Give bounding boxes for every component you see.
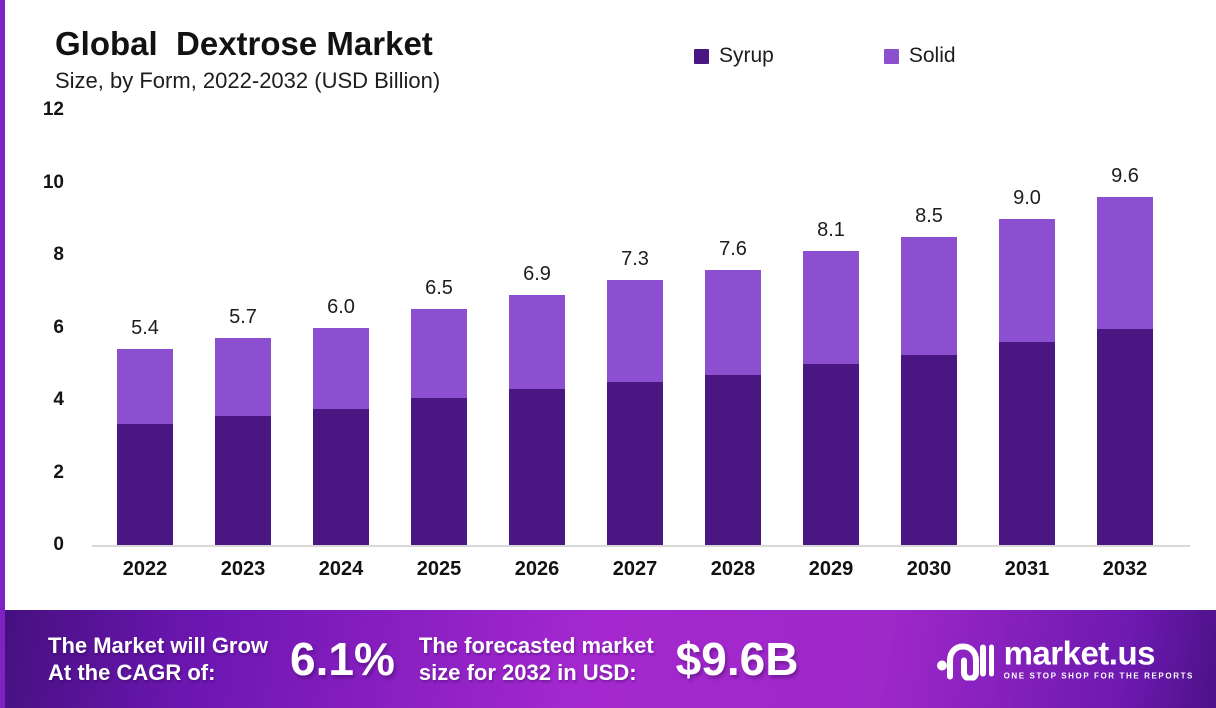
bar-segment-syrup[interactable] — [999, 342, 1055, 545]
bar-value-label: 6.0 — [292, 296, 390, 319]
bar-segment-solid[interactable] — [901, 237, 957, 355]
legend-label-syrup: Syrup — [719, 44, 774, 68]
bar-segment-solid[interactable] — [313, 328, 369, 410]
bar-segment-solid[interactable] — [705, 270, 761, 375]
stacked-bar[interactable] — [607, 280, 663, 545]
chart-header: Global Dextrose Market Size, by Form, 20… — [0, 0, 1216, 110]
page-title: Global Dextrose Market — [55, 24, 440, 64]
x-axis-tick: 2031 — [978, 558, 1076, 581]
bar-group[interactable]: 6.9 — [488, 110, 586, 545]
stacked-bar[interactable] — [509, 295, 565, 545]
page-subtitle: Size, by Form, 2022-2032 (USD Billion) — [55, 66, 440, 96]
bar-value-label: 6.5 — [390, 277, 488, 300]
bar-segment-syrup[interactable] — [117, 424, 173, 545]
bar-group[interactable]: 5.4 — [96, 110, 194, 545]
stacked-bar[interactable] — [411, 309, 467, 545]
legend-swatch-icon-solid — [884, 49, 899, 64]
bar-segment-solid[interactable] — [117, 349, 173, 423]
stacked-bar[interactable] — [803, 251, 859, 545]
y-axis-tick: 10 — [43, 172, 64, 194]
legend-swatch-icon-syrup — [694, 49, 709, 64]
cagr-block: The Market will Grow At the CAGR of: — [48, 632, 268, 686]
bar-segment-syrup[interactable] — [313, 409, 369, 545]
y-axis-tick: 2 — [53, 462, 64, 484]
bar-value-label: 7.3 — [586, 248, 684, 271]
stacked-bar[interactable] — [117, 349, 173, 545]
bar-segment-solid[interactable] — [1097, 197, 1153, 329]
bar-segment-solid[interactable] — [999, 219, 1055, 342]
stacked-bar[interactable] — [215, 338, 271, 545]
bar-segment-syrup[interactable] — [803, 364, 859, 545]
bar-value-label: 9.0 — [978, 187, 1076, 210]
cagr-caption: The Market will Grow At the CAGR of: — [48, 632, 268, 686]
bar-value-label: 7.6 — [684, 238, 782, 261]
legend-item-syrup: Syrup — [694, 44, 774, 68]
logo-wordmark: market.us ONE STOP SHOP FOR THE REPORTS — [1004, 638, 1194, 681]
bar-group[interactable]: 6.5 — [390, 110, 488, 545]
y-axis-tick: 12 — [43, 99, 64, 121]
x-axis-tick: 2026 — [488, 558, 586, 581]
forecast-block: The forecasted market size for 2032 in U… — [419, 632, 654, 686]
bar-group[interactable]: 9.6 — [1076, 110, 1174, 545]
legend-item-solid: Solid — [884, 44, 956, 68]
logo-tagline: ONE STOP SHOP FOR THE REPORTS — [1004, 672, 1194, 681]
market-us-logo-icon — [934, 638, 994, 680]
bar-segment-syrup[interactable] — [901, 355, 957, 545]
bar-value-label: 6.9 — [488, 263, 586, 286]
x-axis-baseline — [92, 545, 1190, 547]
title-block: Global Dextrose Market Size, by Form, 20… — [55, 24, 440, 96]
y-axis-tick: 8 — [53, 244, 64, 266]
brand-logo[interactable]: market.us ONE STOP SHOP FOR THE REPORTS — [934, 638, 1194, 681]
bar-segment-solid[interactable] — [215, 338, 271, 416]
bar-value-label: 5.7 — [194, 306, 292, 329]
x-axis-tick: 2024 — [292, 558, 390, 581]
bar-segment-syrup[interactable] — [607, 382, 663, 545]
x-axis-labels: 2022202320242025202620272028202920302031… — [92, 558, 1190, 598]
logo-name: market.us — [1004, 638, 1194, 670]
x-axis-tick: 2032 — [1076, 558, 1174, 581]
y-axis-tick: 6 — [53, 317, 64, 339]
y-axis: 024681012 — [0, 110, 92, 610]
x-axis-tick: 2028 — [684, 558, 782, 581]
bar-group[interactable]: 6.0 — [292, 110, 390, 545]
stacked-bar[interactable] — [901, 237, 957, 545]
forecast-value-block: $9.6B — [676, 636, 799, 682]
bar-segment-solid[interactable] — [509, 295, 565, 389]
bar-value-label: 5.4 — [96, 317, 194, 340]
x-axis-tick: 2029 — [782, 558, 880, 581]
y-axis-tick: 0 — [53, 534, 64, 556]
bars-container: 5.45.76.06.56.97.37.68.18.59.09.6 — [92, 110, 1190, 545]
bar-group[interactable]: 9.0 — [978, 110, 1076, 545]
bar-segment-syrup[interactable] — [705, 375, 761, 545]
stacked-bar[interactable] — [313, 328, 369, 546]
forecast-caption: The forecasted market size for 2032 in U… — [419, 632, 654, 686]
bar-segment-syrup[interactable] — [1097, 329, 1153, 545]
bar-segment-syrup[interactable] — [509, 389, 565, 545]
forecast-value: $9.6B — [676, 636, 799, 682]
bar-value-label: 9.6 — [1076, 165, 1174, 188]
left-accent-stripe — [0, 0, 5, 708]
chart-legend: Syrup Solid — [694, 44, 956, 68]
stacked-bar[interactable] — [705, 270, 761, 546]
x-axis-tick: 2022 — [96, 558, 194, 581]
bar-segment-solid[interactable] — [411, 309, 467, 398]
bar-segment-solid[interactable] — [803, 251, 859, 363]
y-axis-tick: 4 — [53, 389, 64, 411]
bar-group[interactable]: 7.6 — [684, 110, 782, 545]
x-axis-tick: 2025 — [390, 558, 488, 581]
bar-group[interactable]: 8.5 — [880, 110, 978, 545]
x-axis-tick: 2023 — [194, 558, 292, 581]
cagr-value-block: 6.1% — [290, 636, 395, 682]
bar-segment-solid[interactable] — [607, 280, 663, 382]
legend-label-solid: Solid — [909, 44, 956, 68]
bar-segment-syrup[interactable] — [411, 398, 467, 545]
bar-group[interactable]: 7.3 — [586, 110, 684, 545]
bar-value-label: 8.5 — [880, 205, 978, 228]
stacked-bar[interactable] — [1097, 197, 1153, 545]
bar-group[interactable]: 8.1 — [782, 110, 880, 545]
bar-group[interactable]: 5.7 — [194, 110, 292, 545]
stacked-bar[interactable] — [999, 219, 1055, 545]
infographic-root: Global Dextrose Market Size, by Form, 20… — [0, 0, 1216, 708]
cagr-value: 6.1% — [290, 636, 395, 682]
plot-area: 024681012 5.45.76.06.56.97.37.68.18.59.0… — [0, 110, 1216, 610]
bar-segment-syrup[interactable] — [215, 416, 271, 545]
footer-banner: The Market will Grow At the CAGR of: 6.1… — [0, 610, 1216, 708]
x-axis-tick: 2030 — [880, 558, 978, 581]
bar-value-label: 8.1 — [782, 219, 880, 242]
x-axis-tick: 2027 — [586, 558, 684, 581]
